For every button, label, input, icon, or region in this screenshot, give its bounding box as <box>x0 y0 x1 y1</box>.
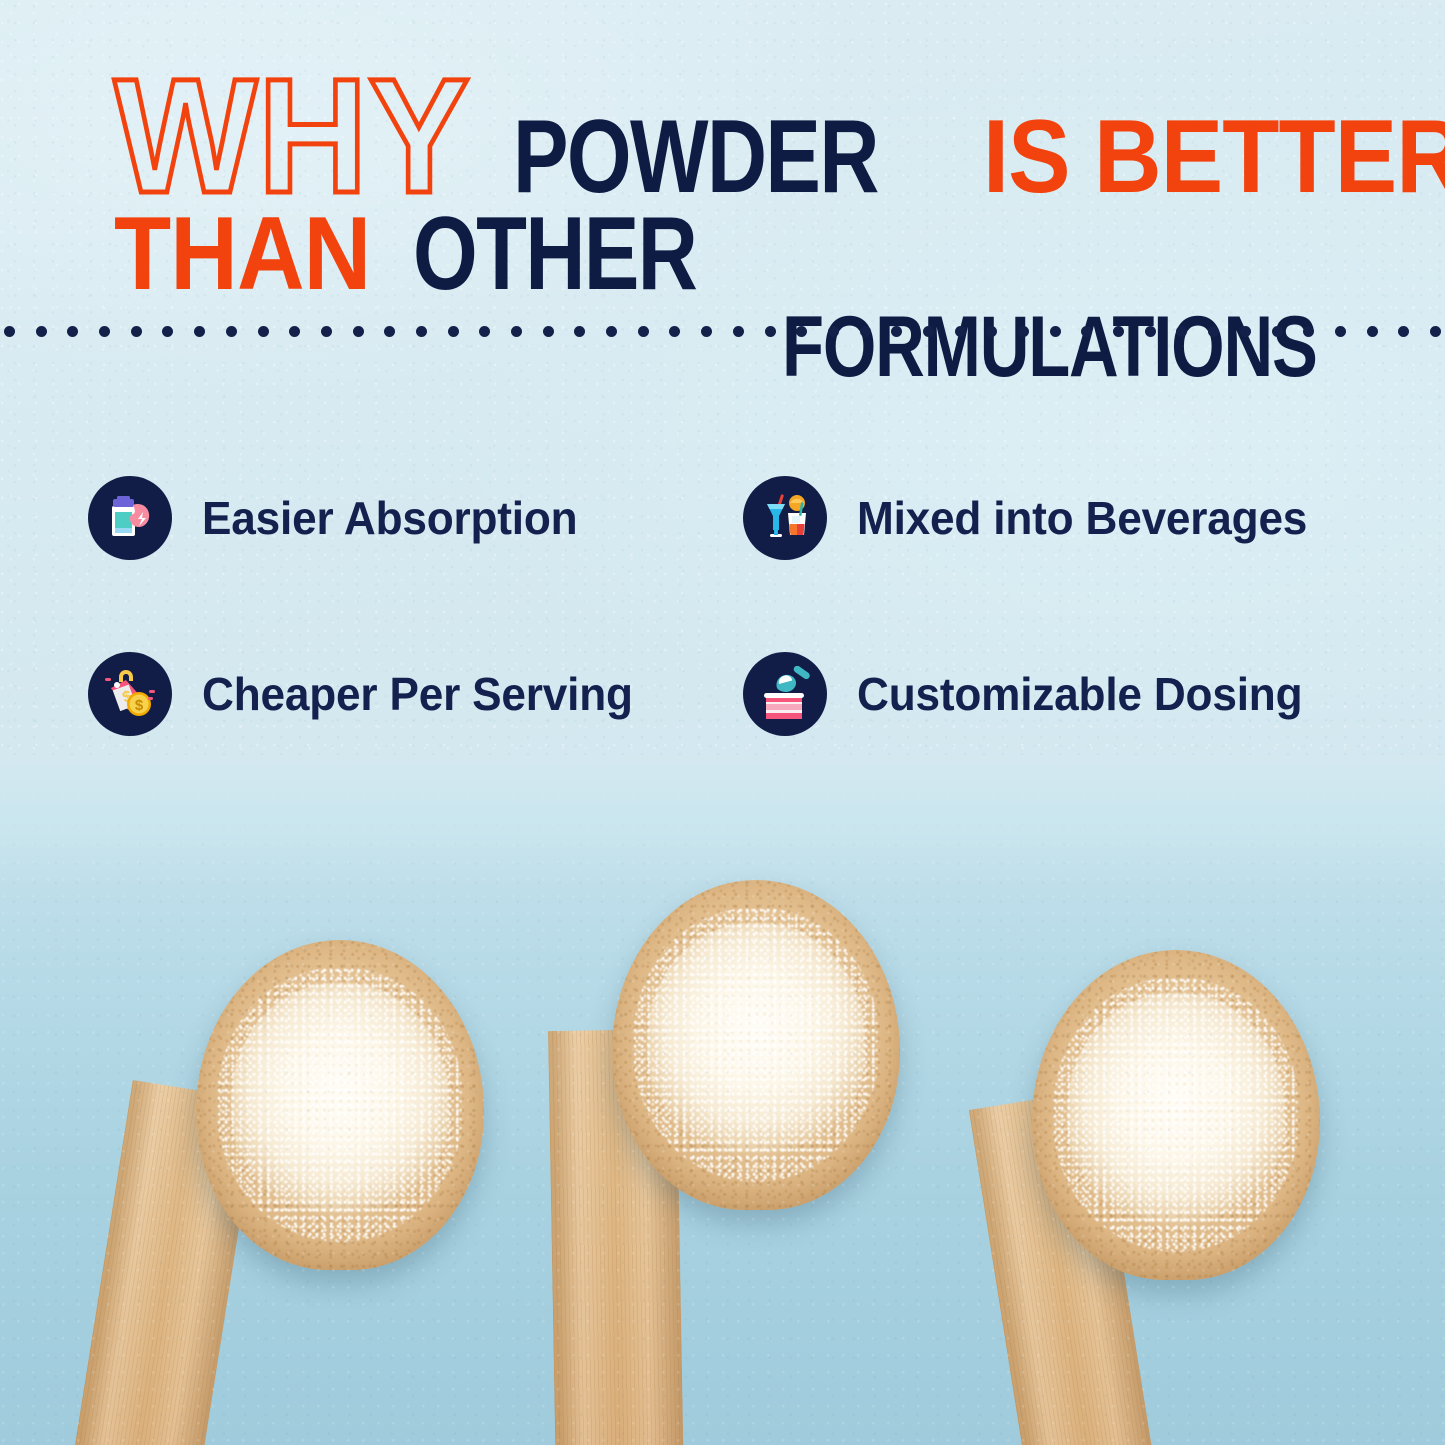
headline-word-other: OTHER <box>413 195 696 314</box>
benefit-item-easier-absorption: Easier Absorption <box>88 430 743 606</box>
cocktail-drinks-icon <box>743 476 827 560</box>
divider-dot <box>796 326 807 337</box>
divider-dot <box>479 326 490 337</box>
headline-word-better: BETTER <box>1094 98 1445 217</box>
benefit-label-cheaper-serving: Cheaper Per Serving <box>202 667 633 721</box>
divider-dot <box>638 326 649 337</box>
divider-dot <box>1081 326 1092 337</box>
divider-dot <box>1113 326 1124 337</box>
divider-dot <box>1430 326 1441 337</box>
divider-dot <box>194 326 205 337</box>
benefit-label-easier-absorption: Easier Absorption <box>202 491 577 545</box>
scoop-container-icon <box>743 652 827 736</box>
headline-word-formulations: FORMULATIONS <box>782 298 1317 397</box>
spoons-photo <box>0 755 1445 1445</box>
divider-dot <box>353 326 364 337</box>
divider-dot <box>131 326 142 337</box>
spoon-bowl <box>612 880 900 1210</box>
divider-dot <box>67 326 78 337</box>
divider-dot <box>321 326 332 337</box>
benefit-item-customizable-dosing: Customizable Dosing <box>743 606 1445 782</box>
divider-dot <box>606 326 617 337</box>
divider-dot <box>860 326 871 337</box>
divider-dot <box>1018 326 1029 337</box>
svg-text:$: $ <box>135 697 144 714</box>
divider-dot <box>986 326 997 337</box>
infographic-page: WHYPOWDERISBETTER THANOTHER FORMULATIONS <box>0 0 1445 1445</box>
price-tag-coin-icon: $ $ <box>88 652 172 736</box>
divider-dot <box>4 326 15 337</box>
benefit-item-mixed-beverages: Mixed into Beverages <box>743 430 1445 606</box>
divider-dot <box>289 326 300 337</box>
divider-dot <box>226 326 237 337</box>
powder-heap <box>231 983 450 1227</box>
divider-dot <box>1145 326 1156 337</box>
divider-dot <box>701 326 712 337</box>
divider-dot <box>574 326 585 337</box>
benefits-grid: Easier Absorption <box>0 430 1445 782</box>
divider-dot <box>733 326 744 337</box>
divider-dot <box>955 326 966 337</box>
protein-tub-stomach-icon <box>88 476 172 560</box>
divider-dot <box>1208 326 1219 337</box>
divider-dot <box>923 326 934 337</box>
headline-line-1: WHYPOWDERISBETTER <box>114 56 1345 217</box>
spoon-bowl <box>1032 950 1320 1280</box>
headline-word-why: WHY <box>114 56 470 216</box>
benefit-label-customizable-dosing: Customizable Dosing <box>857 667 1302 721</box>
divider-dot <box>765 326 776 337</box>
powder-heap <box>1067 993 1286 1237</box>
dotted-divider <box>0 320 1445 342</box>
divider-dot <box>1176 326 1187 337</box>
divider-dot <box>1303 326 1314 337</box>
divider-dot <box>828 326 839 337</box>
divider-dot <box>1367 326 1378 337</box>
divider-dot <box>1240 326 1251 337</box>
divider-dot <box>416 326 427 337</box>
benefit-label-mixed-beverages: Mixed into Beverages <box>857 491 1307 545</box>
divider-dot <box>99 326 110 337</box>
powder-heap <box>647 923 866 1167</box>
divider-dot <box>1335 326 1346 337</box>
divider-dot <box>448 326 459 337</box>
divider-dot <box>384 326 395 337</box>
divider-dot <box>36 326 47 337</box>
headline-word-than: THAN <box>114 195 370 314</box>
divider-dot <box>258 326 269 337</box>
divider-dot <box>891 326 902 337</box>
benefit-item-cheaper-serving: $ $ Cheaper Per Serving <box>88 606 743 782</box>
divider-dot <box>511 326 522 337</box>
divider-dot <box>669 326 680 337</box>
headline-word-is: IS <box>983 98 1070 217</box>
divider-dot <box>1398 326 1409 337</box>
divider-dot <box>1050 326 1061 337</box>
headline-block: WHYPOWDERISBETTER THANOTHER FORMULATIONS <box>0 56 1445 397</box>
divider-dot <box>543 326 554 337</box>
spoon-bowl <box>196 940 484 1270</box>
divider-dot <box>1272 326 1283 337</box>
divider-dot <box>162 326 173 337</box>
